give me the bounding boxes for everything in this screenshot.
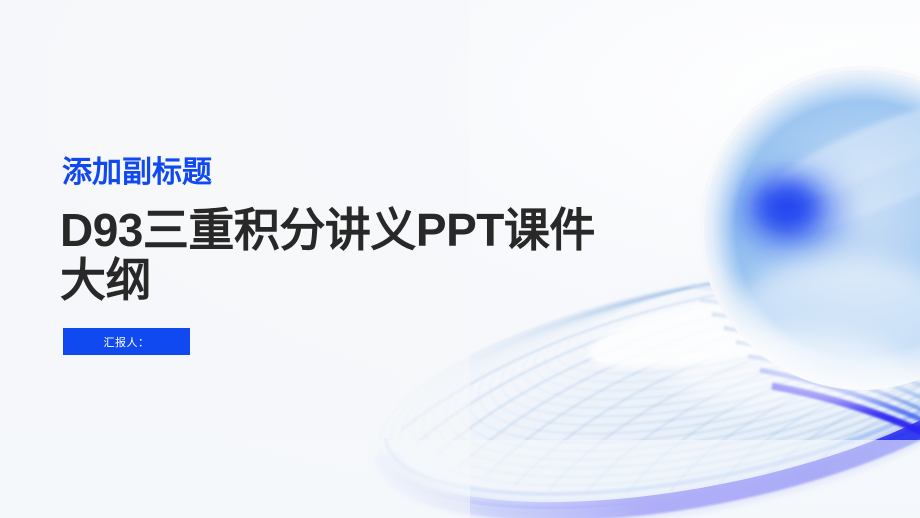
slide-title: D93三重积分讲义PPT课件大纲 [60,205,640,305]
slide-subtitle: 添加副标题 [62,155,212,191]
presentation-slide: 添加副标题 D93三重积分讲义PPT课件大纲 汇报人： [0,0,920,518]
slide-content: 添加副标题 D93三重积分讲义PPT课件大纲 汇报人： [0,0,920,518]
presenter-badge: 汇报人： [63,328,190,355]
presenter-label: 汇报人： [104,334,150,350]
